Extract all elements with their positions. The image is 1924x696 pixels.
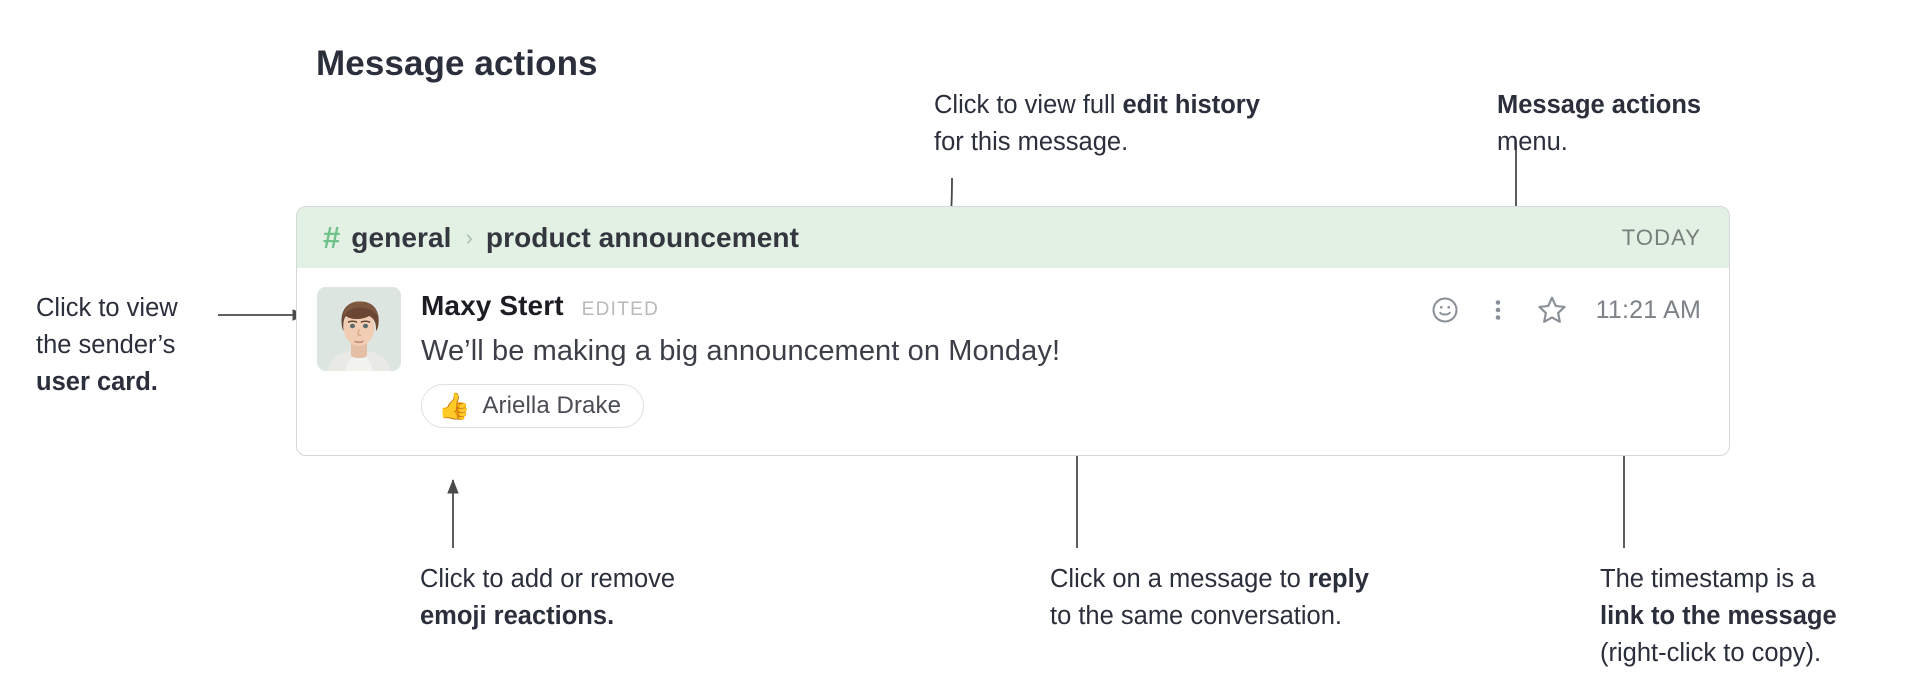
page-title: Message actions bbox=[316, 44, 598, 84]
annotation-timestamp-line3: (right-click to copy). bbox=[1600, 635, 1837, 672]
annotation-edit-history: Click to view full edit history for this… bbox=[934, 87, 1260, 161]
date-label: TODAY bbox=[1622, 225, 1701, 251]
add-reaction-icon[interactable] bbox=[1430, 295, 1460, 325]
annotation-user-card-line1: Click to view bbox=[36, 290, 178, 327]
message-actions-menu-icon[interactable] bbox=[1486, 295, 1510, 325]
annotation-reply-line1-pre: Click on a message to bbox=[1050, 565, 1308, 593]
annotation-actions-menu-line1: Message actions bbox=[1497, 91, 1701, 119]
annotation-user-card-line2: the sender’s bbox=[36, 327, 178, 364]
message-actions-toolbar: 11:21 AM bbox=[1430, 292, 1701, 328]
message-row[interactable]: Maxy Stert EDITED We’ll be making a big … bbox=[297, 268, 1729, 428]
chevron-right-icon: › bbox=[466, 227, 473, 249]
message-body[interactable]: We’ll be making a big announcement on Mo… bbox=[421, 335, 1729, 368]
breadcrumb-channel-name[interactable]: general bbox=[351, 222, 451, 254]
annotation-edit-history-line2: for this message. bbox=[934, 124, 1260, 161]
reaction-user-name: Ariella Drake bbox=[482, 392, 621, 420]
annotation-emoji-reactions: Click to add or remove emoji reactions. bbox=[420, 561, 675, 635]
avatar-image bbox=[317, 287, 401, 371]
avatar[interactable] bbox=[317, 287, 401, 371]
annotation-reply: Click on a message to reply to the same … bbox=[1050, 561, 1369, 635]
annotation-user-card-line3: user card. bbox=[36, 368, 158, 396]
annotation-emoji-line1: Click to add or remove bbox=[420, 561, 675, 598]
breadcrumb-topic-name[interactable]: product announcement bbox=[486, 222, 799, 254]
star-icon[interactable] bbox=[1536, 294, 1568, 326]
annotation-edit-history-line1-bold: edit history bbox=[1122, 91, 1259, 119]
annotation-timestamp: The timestamp is a link to the message (… bbox=[1600, 561, 1837, 672]
sender-name[interactable]: Maxy Stert bbox=[421, 290, 564, 322]
annotation-actions-menu: Message actions menu. bbox=[1497, 87, 1701, 161]
emoji-reaction-chip[interactable]: 👍 Ariella Drake bbox=[421, 384, 644, 428]
annotation-timestamp-line1: The timestamp is a bbox=[1600, 561, 1837, 598]
annotation-reply-line1-bold: reply bbox=[1308, 565, 1369, 593]
annotation-emoji-line2: emoji reactions. bbox=[420, 602, 614, 630]
annotation-actions-menu-line2: menu. bbox=[1497, 124, 1701, 161]
annotation-edit-history-line1-pre: Click to view full bbox=[934, 91, 1122, 119]
thumbs-up-icon: 👍 bbox=[438, 393, 470, 419]
hash-icon: # bbox=[323, 222, 340, 253]
annotation-reply-line2: to the same conversation. bbox=[1050, 598, 1369, 635]
message-card: # general › product announcement TODAY bbox=[296, 206, 1730, 456]
channel-breadcrumb-bar: # general › product announcement TODAY bbox=[297, 207, 1729, 268]
message-timestamp-link[interactable]: 11:21 AM bbox=[1596, 296, 1701, 325]
annotation-timestamp-line2: link to the message bbox=[1600, 602, 1837, 630]
annotation-user-card: Click to view the sender’s user card. bbox=[36, 290, 178, 401]
edited-badge[interactable]: EDITED bbox=[582, 299, 659, 321]
